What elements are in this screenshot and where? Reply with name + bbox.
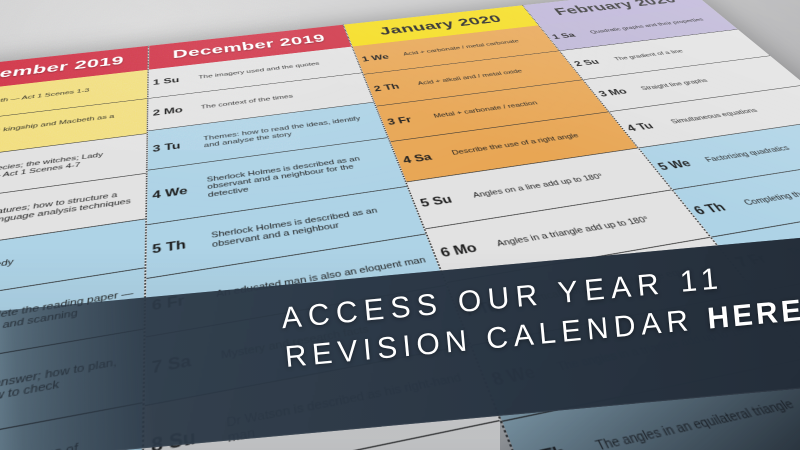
day-number: 3 Tu [153,137,205,154]
day-topic-text: Completing the square [742,172,800,207]
day-topic-text: Metal + carbonate / reaction [433,93,593,120]
day-topic-text: Straight line graphs [639,68,786,92]
day-number: 4 Tu [624,118,677,134]
day-topic-text: The gradient of a line [613,40,753,62]
day-number: 1 Su [153,74,199,88]
day-topic-text: Acid + carbonate / metal carbonate [402,36,546,57]
promo-image: November 20191 FrMacbeth — Act 1 Scenes … [0,0,800,450]
promo-here-emphasis: HERE [706,294,800,336]
day-topic-text: Factorising quadratics [703,133,800,164]
day-number: 2 Th [372,80,420,94]
day-number: 2 Su [572,55,619,68]
day-number: 3 Fr [386,112,437,128]
day-number: 6 Mo [438,237,501,261]
day-topic-text: Angles on a line add up to 180° [471,165,652,199]
day-number: 5 We [655,155,711,173]
day-topic-text: Angles in a triangle add up to 180° [495,209,688,249]
day-number: 1 Sa [550,29,594,40]
day-number: 4 Sa [401,148,455,166]
day-number: 5 Su [418,190,476,211]
day-number: 4 We [152,182,208,202]
day-number: 3 Mo [596,85,645,99]
day-number: 2 Mo [153,103,201,118]
day-topic-text: Acid + alkali and / metal oxide [417,63,568,87]
day-number: 5 Th [152,233,212,257]
day-topic-text: Quadratic graphs and their properties [589,16,722,35]
day-number: 1 We [361,51,406,64]
day-topic-text: Simultaneous equations [669,98,800,125]
day-number: 9 Th [521,435,603,450]
day-topic-text: Describe the use of a right angle [451,127,621,157]
